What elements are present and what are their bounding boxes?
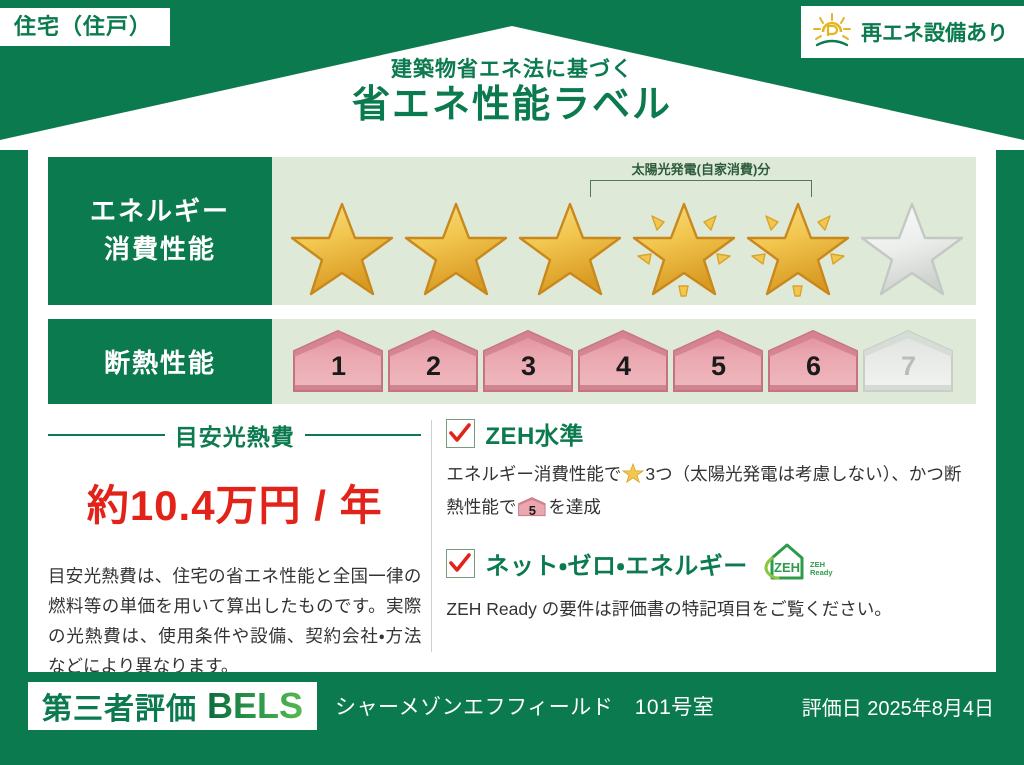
certification-zeh-level-head: ZEH水準 [446, 416, 976, 451]
property-name: シャーメゾンエフフィールド 101号室 [335, 691, 714, 721]
insulation-level-5: 5 [672, 329, 765, 395]
certification-net-zero-energy: ネット・ゼロ・エネルギー ZEH ZEH Ready ZEH Ready の要件… [446, 541, 976, 624]
evaluation-date: 評価日 2025年8月4日 [802, 692, 994, 721]
bels-logo-box: 第三者評価 BELS [28, 682, 317, 730]
insulation-performance-body: 1 2 [272, 319, 976, 404]
energy-performance-body: 太陽光発電(自家消費)分 [272, 157, 976, 305]
energy-performance-label-line1: エネルギー [90, 193, 230, 231]
solar-sun-icon [811, 12, 853, 52]
checkbox-zeh-level[interactable] [446, 419, 475, 448]
certification-net-zero-energy-body: ZEH Ready の要件は評価書の特記項目をご覧ください。 [446, 594, 976, 624]
insulation-level-scale: 1 2 [272, 319, 976, 404]
insulation-level-7: 7 [862, 329, 955, 395]
star-icon [622, 467, 644, 487]
star-3 [516, 194, 624, 298]
zeh-body-part1: エネルギー消費性能で [446, 464, 621, 484]
check-icon [449, 422, 471, 444]
check-icon [449, 552, 471, 574]
checkbox-net-zero-energy[interactable] [446, 549, 475, 578]
star-rating [272, 191, 976, 301]
heading-rule-left [48, 434, 165, 436]
energy-cost-value: 約10.4万円 / 年 [48, 472, 421, 533]
label-subtitle: 建築物省エネ法に基づく [0, 58, 1024, 82]
bels-evaluation-jp: 第三者評価 [42, 684, 197, 728]
energy-performance-label: エネルギー 消費性能 [48, 157, 272, 305]
star-6-empty [858, 194, 966, 298]
insulation-level-2: 2 [387, 329, 480, 395]
certification-section: ZEH水準 エネルギー消費性能で 3つ（太陽光発電は考慮しない）、かつ断熱性能で… [446, 416, 976, 656]
energy-cost-section: 目安光熱費 約10.4万円 / 年 目安光熱費は、住宅の省エネ性能と全国一律の燃… [48, 416, 431, 656]
star-1 [288, 194, 396, 298]
badge-renewable-energy: 再エネ設備あり [801, 6, 1024, 58]
zeh-body-part3: を達成 [548, 497, 601, 517]
column-divider [431, 420, 432, 652]
insulation-level-6: 6 [767, 329, 860, 395]
certification-zeh-level-body: エネルギー消費性能で 3つ（太陽光発電は考慮しない）、かつ断熱性能で 5を達成 [446, 459, 976, 527]
certification-net-zero-energy-title: ネット・ゼロ・エネルギー [485, 546, 747, 581]
insulation-level-3: 3 [482, 329, 575, 395]
bels-evaluation-en: BELS [207, 685, 303, 727]
insulation-badge-inline-number: 5 [518, 500, 546, 522]
insulation-level-4: 4 [577, 329, 670, 395]
insulation-level-1: 1 [292, 329, 385, 395]
certification-net-zero-energy-head: ネット・ゼロ・エネルギー ZEH ZEH Ready [446, 541, 976, 586]
energy-performance-row: エネルギー 消費性能 太陽光発電(自家消費)分 [48, 157, 976, 305]
star-2 [402, 194, 510, 298]
certification-zeh-level-title: ZEH水準 [485, 416, 584, 451]
svg-text:Ready: Ready [810, 568, 833, 577]
energy-performance-label: 住宅（住戸） 再エネ設備あり 建築物省エネ法に基づく [0, 0, 1024, 765]
solar-annotation-label: 太陽光発電(自家消費)分 [590, 159, 812, 178]
insulation-badge-inline: 5 [518, 496, 546, 527]
footer-bar: 第三者評価 BELS シャーメゾンエフフィールド 101号室 評価日 2025年… [0, 672, 1024, 765]
lower-content: 目安光熱費 約10.4万円 / 年 目安光熱費は、住宅の省エネ性能と全国一律の燃… [48, 416, 976, 656]
energy-cost-note: 目安光熱費は、住宅の省エネ性能と全国一律の燃料等の単価を用いて算出したものです。… [48, 561, 421, 681]
insulation-performance-row: 断熱性能 [48, 319, 976, 404]
star-4-solar [630, 194, 738, 298]
badge-renewable-energy-label: 再エネ設備あり [861, 17, 1008, 47]
footer-content: 第三者評価 BELS シャーメゾンエフフィールド 101号室 評価日 2025年… [0, 682, 1024, 730]
badge-housing-type-label: 住宅（住戸） [14, 15, 152, 39]
certification-zeh-level: ZEH水準 エネルギー消費性能で 3つ（太陽光発電は考慮しない）、かつ断熱性能で… [446, 416, 976, 527]
zeh-ready-logo: ZEH ZEH Ready [764, 541, 838, 586]
svg-text:ZEH: ZEH [774, 560, 800, 575]
energy-performance-label-line2: 消費性能 [104, 231, 216, 269]
insulation-performance-label: 断熱性能 [48, 319, 272, 404]
main-content-card: エネルギー 消費性能 太陽光発電(自家消費)分 [28, 144, 996, 672]
badge-housing-type: 住宅（住戸） [0, 8, 170, 46]
label-title: 省エネ性能ラベル [0, 84, 1024, 128]
energy-cost-heading-label: 目安光熱費 [175, 418, 295, 452]
heading-rule-right [305, 434, 422, 436]
label-title-block: 建築物省エネ法に基づく 省エネ性能ラベル [0, 58, 1024, 128]
star-5-solar [744, 194, 852, 298]
energy-cost-heading: 目安光熱費 [48, 418, 421, 452]
